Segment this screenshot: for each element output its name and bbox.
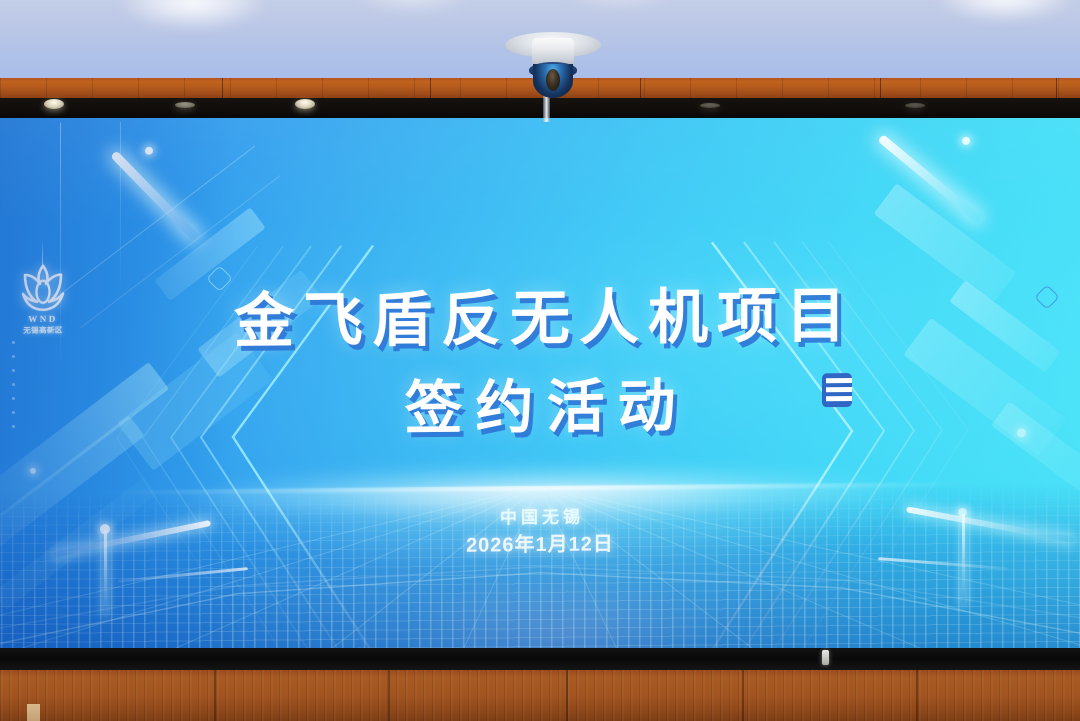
wood-seam [222, 78, 223, 98]
wood-seam [430, 78, 431, 98]
ceiling-light-glow [560, 0, 680, 10]
decor-light-pole [962, 514, 965, 604]
decor-dot [145, 147, 153, 155]
decor-chevron-group [700, 234, 980, 650]
decor-thin-line [60, 123, 61, 373]
decor-thin-line [120, 122, 121, 302]
data-plane-perspective-lines [0, 480, 1080, 650]
ceiling-spotlight [44, 99, 64, 109]
decor-floor-light-bar [118, 567, 248, 583]
led-screen-surface: WND 无锡高新区 金飞盾反无人机项目 签约活动 中国无锡 2026年1月12日 [0, 118, 1080, 650]
wood-panel-seam [214, 670, 216, 721]
decor-bar [0, 415, 145, 576]
ceiling-spotlight [700, 103, 720, 108]
logo-abbr: WND [8, 313, 78, 324]
decor-bar-glyph [822, 373, 852, 407]
decor-dot [1017, 428, 1026, 437]
decor-chevron-group [105, 239, 385, 650]
decor-light-pole [104, 530, 107, 614]
subtitle-date: 2026年1月12日 [0, 523, 1080, 562]
decor-floor-light-bar [906, 506, 1074, 543]
wood-panel-seam [742, 670, 744, 721]
decor-bar [991, 401, 1080, 514]
ceiling-light-glow [935, 0, 1075, 22]
decor-dot [100, 524, 110, 534]
camera-mount-stem [543, 96, 550, 122]
decor-bar [903, 318, 1066, 456]
horizon-line [86, 483, 993, 495]
title-line-1: 金飞盾反无人机项目 [0, 265, 1080, 362]
screen-title-block: 金飞盾反无人机项目 签约活动 中国无锡 2026年1月12日 [0, 118, 1080, 123]
decor-bar [949, 280, 1060, 372]
decor-hairline [55, 146, 255, 299]
logo-accent-dots [12, 341, 15, 439]
decor-bar [874, 183, 1017, 303]
wood-seam [880, 78, 881, 98]
decor-bar [0, 477, 157, 610]
wood-seam [640, 78, 641, 98]
dark-ceiling-soffit [0, 98, 1080, 118]
led-screen-shell: WND 无锡高新区 金飞盾反无人机项目 签约活动 中国无锡 2026年1月12日 [0, 116, 1080, 656]
wood-wall-highlight [27, 704, 40, 721]
ceiling-spotlight [295, 99, 315, 109]
decor-diamond [1034, 284, 1059, 309]
wood-seam [1056, 78, 1057, 98]
decor-bar [0, 362, 169, 517]
wood-panel-seam [566, 670, 568, 721]
decor-dot [958, 508, 967, 517]
screen-indicator-light [822, 650, 829, 665]
upper-wood-wall-band [0, 78, 1080, 98]
screen-bottom-bezel [0, 648, 1080, 670]
title-line-2: 签约活动 [0, 355, 1080, 449]
logo-chinese-name: 无锡高新区 [8, 324, 78, 336]
ceiling [0, 0, 1080, 78]
subtitle-location: 中国无锡 [0, 498, 1080, 533]
data-plane-grid [0, 480, 1080, 650]
decor-bar [117, 332, 273, 471]
perspective-data-plane [0, 480, 1080, 650]
decor-floor-light-bar [53, 520, 211, 558]
decor-light-streak [877, 134, 982, 224]
conference-hall-photo: WND 无锡高新区 金飞盾反无人机项目 签约活动 中国无锡 2026年1月12日 [0, 0, 1080, 721]
lotus-flower-icon [17, 263, 69, 313]
ceiling-light-glow [352, 0, 472, 14]
ceiling-light-glow [118, 0, 268, 30]
wood-panel-seam [388, 670, 390, 721]
decor-bar [154, 207, 265, 301]
decor-hairline [80, 175, 280, 328]
decor-light-streak [110, 150, 200, 242]
logo-hanging-wire [42, 239, 43, 269]
screen-content-layer: WND 无锡高新区 金飞盾反无人机项目 签约活动 中国无锡 2026年1月12日 [0, 118, 1080, 650]
horizon-glow [194, 461, 885, 526]
decor-dot [30, 468, 36, 474]
decor-dot [962, 137, 970, 145]
decor-bar [197, 270, 322, 378]
ceiling-spotlight [175, 102, 195, 108]
decor-diamond [206, 265, 233, 292]
wood-panel-seam [916, 670, 918, 721]
lower-wood-wall-panel [0, 670, 1080, 721]
organization-logo: WND 无锡高新区 [8, 262, 78, 336]
decor-floor-light-bar [878, 557, 1008, 570]
ceiling-spotlight [905, 103, 925, 108]
